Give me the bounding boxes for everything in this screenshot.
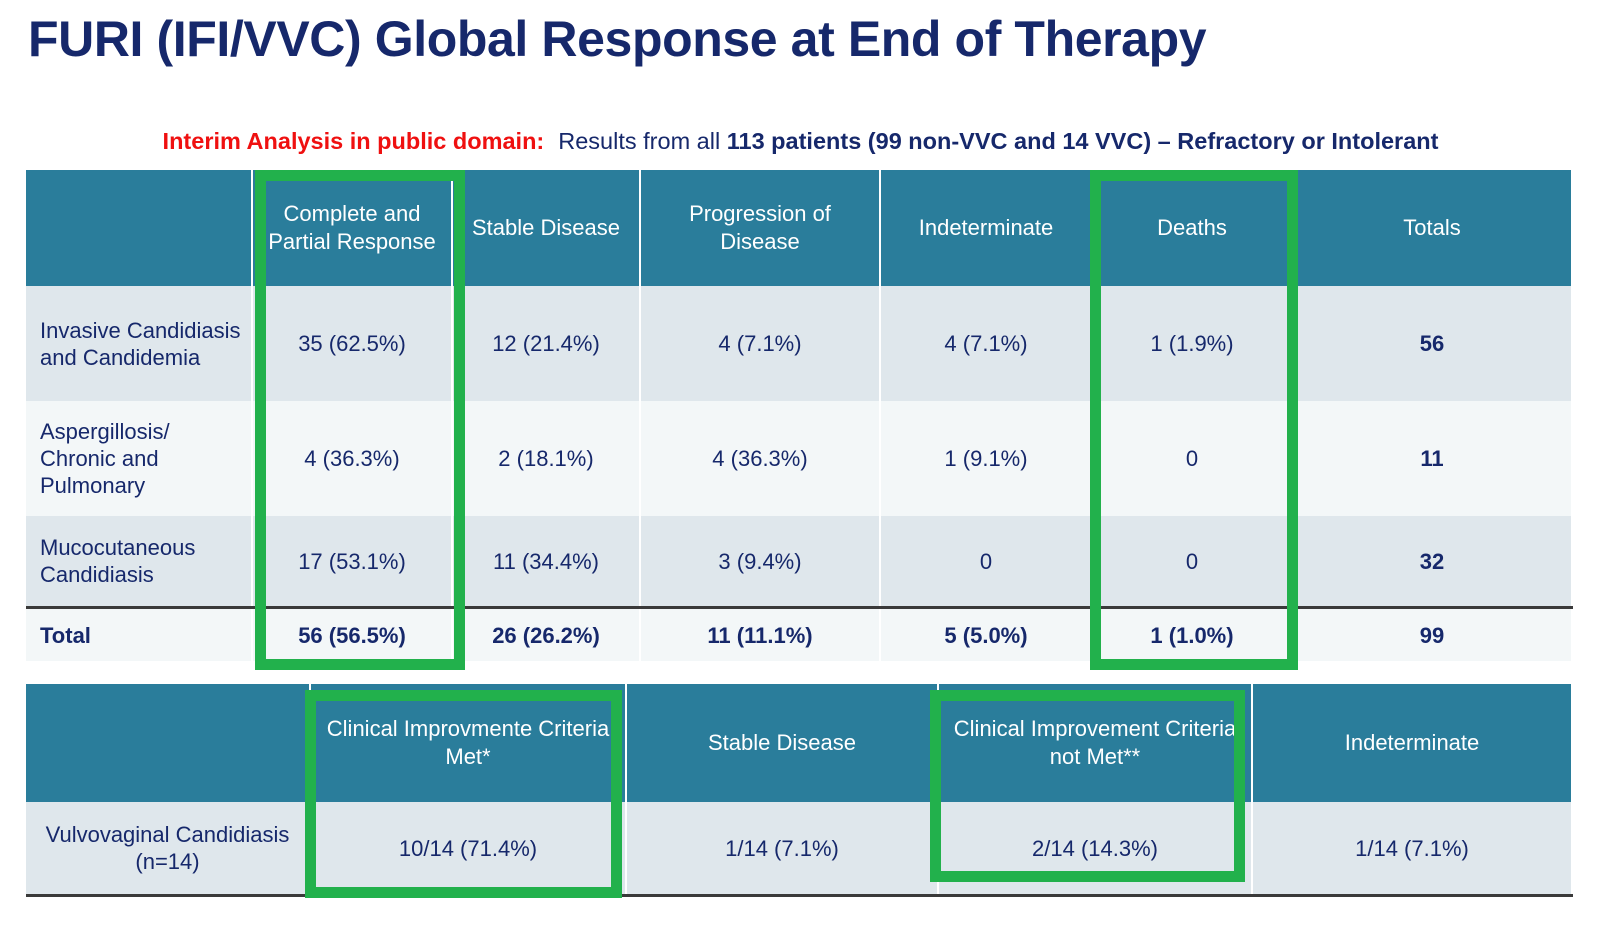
header-cell-deaths: Deaths xyxy=(1092,170,1292,286)
subtitle-lead: Interim Analysis in public domain: xyxy=(163,128,545,154)
table-header-row: Clinical Improvmente Criteria Met* Stabl… xyxy=(26,684,1572,802)
vvc-response-table: Clinical Improvmente Criteria Met* Stabl… xyxy=(26,684,1573,897)
table-row: Mucocutaneous Candidiasis 17 (53.1%) 11 … xyxy=(26,516,1572,608)
cell-invasive-progression: 4 (7.1%) xyxy=(640,286,880,401)
table-total-row: Total 56 (56.5%) 26 (26.2%) 11 (11.1%) 5… xyxy=(26,608,1572,662)
cell-aspergillosis-deaths: 0 xyxy=(1092,401,1292,516)
cell-vvc-stable: 1/14 (7.1%) xyxy=(626,802,938,896)
page-title: FURI (IFI/VVC) Global Response at End of… xyxy=(28,8,1568,70)
table-row: Aspergillosis/ Chronic and Pulmonary 4 (… xyxy=(26,401,1572,516)
row-label-mucocutaneous: Mucocutaneous Candidiasis xyxy=(26,516,252,608)
row-label-aspergillosis: Aspergillosis/ Chronic and Pulmonary xyxy=(26,401,252,516)
cell-vvc-criteria-met: 10/14 (71.4%) xyxy=(310,802,626,896)
cell-aspergillosis-stable: 2 (18.1%) xyxy=(452,401,640,516)
cell-aspergillosis-progression: 4 (36.3%) xyxy=(640,401,880,516)
header-cell-criteria-not-met: Clinical Improvement Criteria not Met** xyxy=(938,684,1252,802)
cell-total-deaths: 1 (1.0%) xyxy=(1092,608,1292,662)
subtitle: Interim Analysis in public domain:Result… xyxy=(28,126,1573,156)
cell-aspergillosis-indeterminate: 1 (9.1%) xyxy=(880,401,1092,516)
cell-mucocutaneous-progression: 3 (9.4%) xyxy=(640,516,880,608)
table-header-row: Complete and Partial Response Stable Dis… xyxy=(26,170,1572,286)
header-cell-stable-disease: Stable Disease xyxy=(626,684,938,802)
cell-invasive-indeterminate: 4 (7.1%) xyxy=(880,286,1092,401)
cell-mucocutaneous-deaths: 0 xyxy=(1092,516,1292,608)
cell-aspergillosis-totals: 11 xyxy=(1292,401,1572,516)
cell-total-stable: 26 (26.2%) xyxy=(452,608,640,662)
cell-total-complete-partial: 56 (56.5%) xyxy=(252,608,452,662)
cell-total-progression: 11 (11.1%) xyxy=(640,608,880,662)
cell-vvc-criteria-not-met: 2/14 (14.3%) xyxy=(938,802,1252,896)
subtitle-part1: Results from all xyxy=(558,128,726,154)
ifi-response-table: Complete and Partial Response Stable Dis… xyxy=(26,170,1573,661)
subtitle-bold1: 113 patients (99 non-VVC and 14 VVC) – R… xyxy=(727,128,1439,154)
table-row: Vulvovaginal Candidiasis (n=14) 10/14 (7… xyxy=(26,802,1572,896)
cell-total-indeterminate: 5 (5.0%) xyxy=(880,608,1092,662)
cell-mucocutaneous-totals: 32 xyxy=(1292,516,1572,608)
header-cell-totals: Totals xyxy=(1292,170,1572,286)
row-label-invasive-candidiasis: Invasive Candidiasis and Candidemia xyxy=(26,286,252,401)
header-cell-indeterminate: Indeterminate xyxy=(880,170,1092,286)
cell-invasive-deaths: 1 (1.9%) xyxy=(1092,286,1292,401)
cell-invasive-complete-partial: 35 (62.5%) xyxy=(252,286,452,401)
header-cell-progression-of-disease: Progression of Disease xyxy=(640,170,880,286)
cell-invasive-stable: 12 (21.4%) xyxy=(452,286,640,401)
header-cell-criteria-met: Clinical Improvmente Criteria Met* xyxy=(310,684,626,802)
cell-invasive-totals: 56 xyxy=(1292,286,1572,401)
cell-mucocutaneous-complete-partial: 17 (53.1%) xyxy=(252,516,452,608)
row-label-vulvovaginal-candidiasis: Vulvovaginal Candidiasis (n=14) xyxy=(26,802,310,896)
header-cell-stable-disease: Stable Disease xyxy=(452,170,640,286)
header-cell-corner xyxy=(26,684,310,802)
row-label-total: Total xyxy=(26,608,252,662)
header-cell-complete-partial-response: Complete and Partial Response xyxy=(252,170,452,286)
cell-aspergillosis-complete-partial: 4 (36.3%) xyxy=(252,401,452,516)
header-cell-indeterminate: Indeterminate xyxy=(1252,684,1572,802)
cell-vvc-indeterminate: 1/14 (7.1%) xyxy=(1252,802,1572,896)
cell-total-totals: 99 xyxy=(1292,608,1572,662)
cell-mucocutaneous-stable: 11 (34.4%) xyxy=(452,516,640,608)
table-row: Invasive Candidiasis and Candidemia 35 (… xyxy=(26,286,1572,401)
header-cell-corner xyxy=(26,170,252,286)
cell-mucocutaneous-indeterminate: 0 xyxy=(880,516,1092,608)
